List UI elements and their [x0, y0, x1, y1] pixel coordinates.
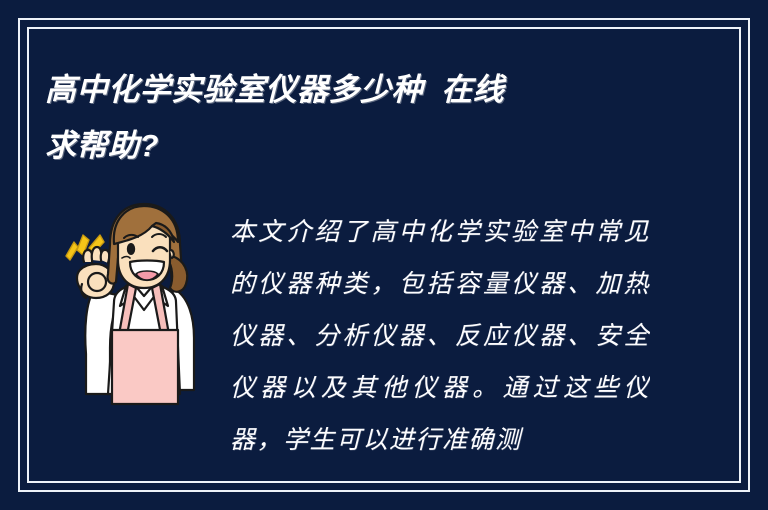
article-summary: 本文介绍了高中化学实验室中常见的仪器种类，包括容量仪器、加热仪器、分析仪器、反应…: [230, 206, 650, 456]
title-line-2: 求帮助?: [45, 118, 705, 174]
poster-canvas: 高中化学实验室仪器多少种 在线 求帮助?: [0, 0, 768, 510]
illustration-woman-ok-gesture: [52, 198, 236, 410]
page-title: 高中化学实验室仪器多少种 在线 求帮助?: [45, 62, 705, 174]
article-summary-paragraph: 本文介绍了高中化学实验室中常见的仪器种类，包括容量仪器、加热仪器、分析仪器、反应…: [230, 206, 650, 456]
title-line-1: 高中化学实验室仪器多少种 在线: [45, 62, 705, 118]
